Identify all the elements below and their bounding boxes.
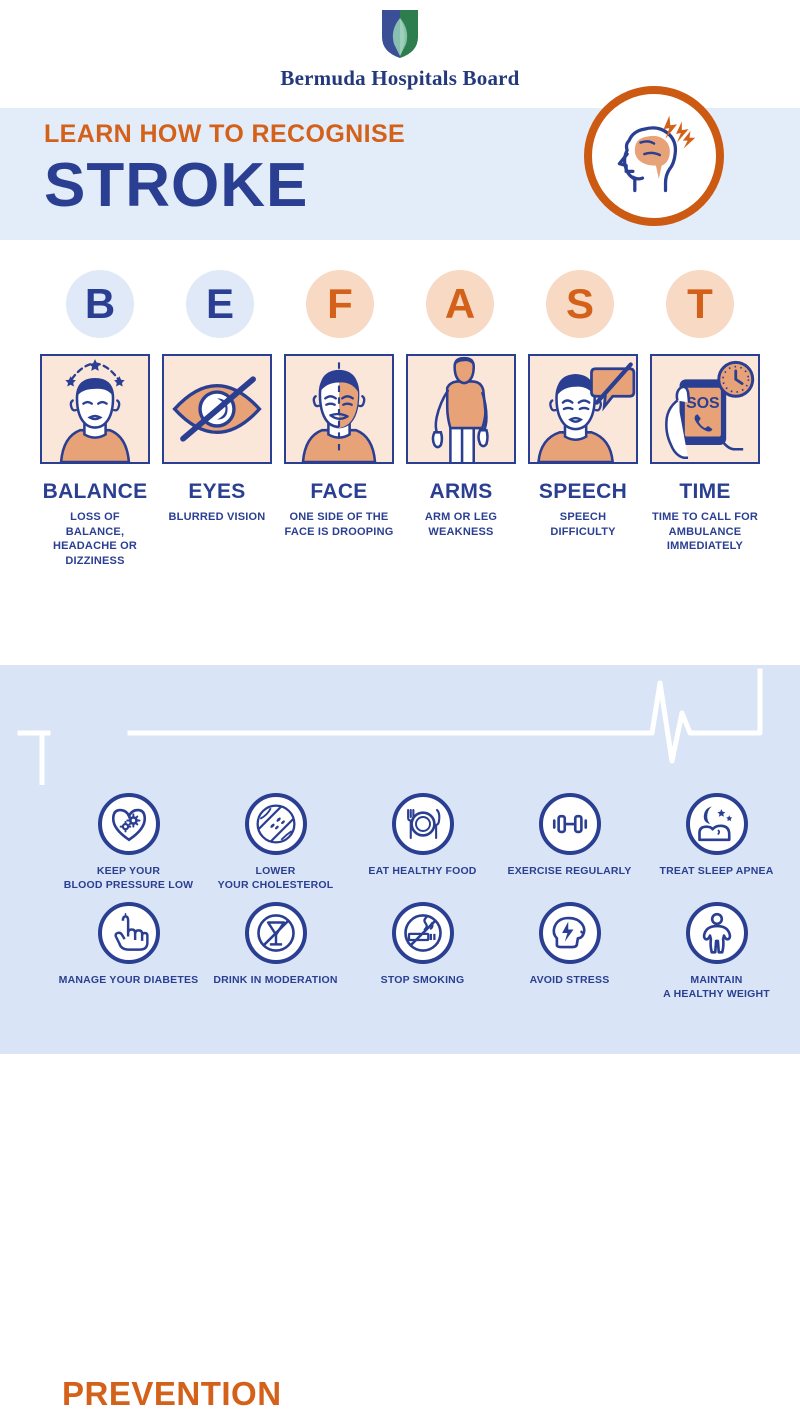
drooping-face-icon bbox=[284, 354, 394, 464]
befast-letter-e: E bbox=[186, 270, 254, 338]
dumbbell-icon bbox=[539, 793, 601, 855]
plate-fork-knife-icon bbox=[392, 793, 454, 855]
finger-prick-glucose-icon bbox=[98, 902, 160, 964]
caption-desc: ONE SIDE OF THE FACE IS DROOPING bbox=[284, 510, 394, 539]
weak-arm-person-icon bbox=[406, 354, 516, 464]
prevention-label: EXERCISE REGULARLY bbox=[508, 865, 632, 879]
prevention-item-sleep-apnea: TREAT SLEEP APNEA bbox=[643, 793, 790, 892]
befast-letter-b: B bbox=[66, 270, 134, 338]
befast-letter-f: F bbox=[306, 270, 374, 338]
prevention-item-smoking: STOP SMOKING bbox=[349, 902, 496, 1001]
caption-arms: ARMS ARM OR LEG WEAKNESS bbox=[406, 480, 516, 568]
body-weight-person-icon bbox=[686, 902, 748, 964]
befast-captions: BALANCE LOSS OF BALANCE, HEADACHE OR DIZ… bbox=[0, 464, 800, 568]
dizzy-head-stars-icon bbox=[40, 354, 150, 464]
caption-speech: SPEECH SPEECH DIFFICULTY bbox=[528, 480, 638, 568]
letter-cell: T bbox=[640, 254, 760, 354]
title-band: LEARN HOW TO RECOGNISE STROKE bbox=[0, 108, 800, 240]
prevention-section: PREVENTION KEEP YOU bbox=[0, 665, 800, 1054]
caption-desc: SPEECH DIFFICULTY bbox=[528, 510, 638, 539]
caption-title: ARMS bbox=[406, 480, 516, 503]
caption-desc: BLURRED VISION bbox=[162, 510, 272, 525]
prevention-label: DRINK IN MODERATION bbox=[213, 974, 337, 988]
prevention-label: AVOID STRESS bbox=[530, 974, 610, 988]
prevention-item-exercise: EXERCISE REGULARLY bbox=[496, 793, 643, 892]
prevention-label: MAINTAINA HEALTHY WEIGHT bbox=[663, 974, 770, 1001]
caption-desc: TIME TO CALL FOR AMBULANCE IMMEDIATELY bbox=[650, 510, 760, 554]
prevention-item-healthy-food: EAT HEALTHY FOOD bbox=[349, 793, 496, 892]
caption-balance: BALANCE LOSS OF BALANCE, HEADACHE OR DIZ… bbox=[40, 480, 150, 568]
caption-desc: ARM OR LEG WEAKNESS bbox=[406, 510, 516, 539]
prevention-item-stress: AVOID STRESS bbox=[496, 902, 643, 1001]
prevention-item-diabetes: MANAGE YOUR DIABETES bbox=[55, 902, 202, 1001]
befast-letter-a: A bbox=[426, 270, 494, 338]
prevention-title: PREVENTION bbox=[62, 1377, 282, 1410]
prevention-item-alcohol: DRINK IN MODERATION bbox=[202, 902, 349, 1001]
caption-desc: LOSS OF BALANCE, HEADACHE OR DIZZINESS bbox=[40, 510, 150, 568]
befast-section: B E F A S T bbox=[0, 240, 800, 568]
letter-cell: S bbox=[520, 254, 640, 354]
no-smoking-cigarette-icon bbox=[392, 902, 454, 964]
caption-title: BALANCE bbox=[40, 480, 150, 503]
prevention-label: LOWERYOUR CHOLESTEROL bbox=[218, 865, 334, 892]
prevention-item-cholesterol: LOWERYOUR CHOLESTEROL bbox=[202, 793, 349, 892]
prevention-label: MANAGE YOUR DIABETES bbox=[59, 974, 199, 988]
prevention-label: STOP SMOKING bbox=[381, 974, 465, 988]
caption-time: TIME TIME TO CALL FOR AMBULANCE IMMEDIAT… bbox=[650, 480, 760, 568]
shield-leaf-logo-icon bbox=[376, 4, 424, 62]
befast-letters: B E F A S T bbox=[0, 254, 800, 354]
artery-cholesterol-icon bbox=[245, 793, 307, 855]
caption-title: TIME bbox=[650, 480, 760, 503]
head-lightning-stress-icon bbox=[539, 902, 601, 964]
heart-gears-icon bbox=[98, 793, 160, 855]
letter-cell: A bbox=[400, 254, 520, 354]
no-alcohol-glass-icon bbox=[245, 902, 307, 964]
prevention-item-blood-pressure: KEEP YOURBLOOD PRESSURE LOW bbox=[55, 793, 202, 892]
phone-sos-clock-icon: SOS bbox=[650, 354, 760, 464]
caption-title: SPEECH bbox=[528, 480, 638, 503]
caption-face: FACE ONE SIDE OF THE FACE IS DROOPING bbox=[284, 480, 394, 568]
prevention-grid: KEEP YOURBLOOD PRESSURE LOW bbox=[55, 793, 790, 1002]
prevention-label: EAT HEALTHY FOOD bbox=[368, 865, 476, 879]
prevention-label: KEEP YOURBLOOD PRESSURE LOW bbox=[64, 865, 194, 892]
caption-eyes: EYES BLURRED VISION bbox=[162, 480, 272, 568]
caption-title: FACE bbox=[284, 480, 394, 503]
letter-cell: F bbox=[280, 254, 400, 354]
org-name: Bermuda Hospitals Board bbox=[280, 66, 519, 91]
befast-letter-s: S bbox=[546, 270, 614, 338]
befast-panels: SOS bbox=[0, 354, 800, 464]
caption-title: EYES bbox=[162, 480, 272, 503]
crossed-out-speech-bubble-icon bbox=[528, 354, 638, 464]
prevention-item-healthy-weight: MAINTAINA HEALTHY WEIGHT bbox=[643, 902, 790, 1001]
letter-cell: B bbox=[40, 254, 160, 354]
moon-stars-sleeping-icon bbox=[686, 793, 748, 855]
crossed-out-eye-icon bbox=[162, 354, 272, 464]
prevention-label: TREAT SLEEP APNEA bbox=[659, 865, 773, 879]
heartbeat-ecg-line-icon bbox=[0, 665, 800, 785]
head-brain-lightning-icon bbox=[584, 86, 724, 226]
befast-letter-t: T bbox=[666, 270, 734, 338]
svg-text:SOS: SOS bbox=[686, 395, 720, 412]
letter-cell: E bbox=[160, 254, 280, 354]
